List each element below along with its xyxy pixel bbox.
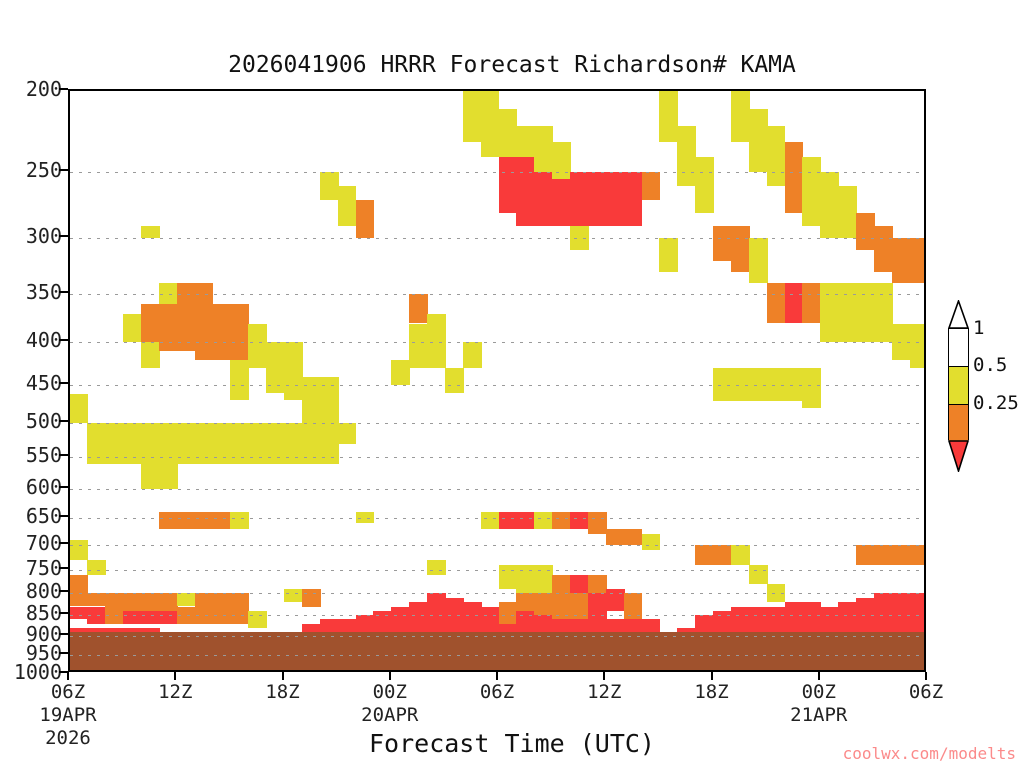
heatmap-cell <box>123 611 142 624</box>
heatmap-cell <box>230 423 249 464</box>
heatmap-cell <box>820 283 839 342</box>
y-axis-tick-label: 500 <box>26 409 62 433</box>
heatmap-cell <box>659 91 678 142</box>
heatmap-cell <box>749 368 768 400</box>
heatmap-cell <box>141 342 160 368</box>
y-axis-tick-label: 350 <box>26 280 62 304</box>
heatmap-cell <box>409 324 428 369</box>
heatmap-cell <box>481 512 500 529</box>
heatmap-cell <box>570 593 589 619</box>
heatmap-cell <box>105 423 124 464</box>
heatmap-cell <box>606 529 625 545</box>
colorbar-tick-label: 1 <box>973 317 984 339</box>
heatmap-cell <box>499 512 518 529</box>
heatmap-cell <box>606 589 625 611</box>
y-axis-tick-mark <box>59 633 68 635</box>
heatmap-cell <box>141 611 160 624</box>
richardson-number-forecast-chart: 2026041906 HRRR Forecast Richardson# KAM… <box>0 0 1024 768</box>
x-tick-time: 00Z <box>790 681 847 704</box>
heatmap-cell <box>159 304 178 351</box>
heatmap-cell <box>284 423 303 464</box>
heatmap-cell <box>695 545 714 565</box>
heatmap-cell <box>248 423 267 464</box>
y-axis-tick-mark <box>59 486 68 488</box>
heatmap-cell <box>302 377 321 423</box>
heatmap-cell <box>820 172 839 238</box>
heatmap-cell <box>856 213 875 250</box>
heatmap-cell <box>159 464 178 489</box>
heatmap-cell <box>230 304 249 360</box>
heatmap-cell <box>856 598 875 636</box>
heatmap-cell <box>874 226 893 273</box>
heatmap-cell <box>534 512 553 529</box>
y-axis-tick-label: 700 <box>26 531 62 555</box>
colorbar-tick-label: 0.25 <box>973 392 1019 414</box>
heatmap-cell <box>802 157 821 226</box>
heatmap-cell <box>177 607 196 624</box>
x-tick-time: 06Z <box>480 681 514 704</box>
heatmap-cell <box>785 283 804 323</box>
heatmap-cell <box>767 126 786 187</box>
heatmap-cell <box>266 423 285 464</box>
x-tick-time: 12Z <box>158 681 192 704</box>
heatmap-cell <box>785 602 804 636</box>
heatmap-cell <box>481 91 500 157</box>
heatmap-cell <box>767 368 786 400</box>
x-axis-tick-mark <box>282 672 284 680</box>
heatmap-cell <box>659 238 678 273</box>
heatmap-cell <box>356 200 375 238</box>
heatmap-cell <box>338 423 357 444</box>
heatmap-cell <box>910 545 926 565</box>
heatmap-cell <box>123 593 142 611</box>
x-tick-date: 19APR <box>39 704 96 727</box>
y-axis-tick-mark <box>59 542 68 544</box>
x-axis-tick-label: 06Z <box>480 681 514 704</box>
x-axis-tick-label: 00Z21APR <box>790 681 847 727</box>
x-axis-tick-mark <box>496 672 498 680</box>
heatmap-cell <box>213 304 232 360</box>
heatmap-cell <box>445 598 464 636</box>
x-axis-tick-marks <box>68 672 926 681</box>
heatmap-cell <box>141 593 160 611</box>
heatmap-cell <box>910 238 926 283</box>
heatmap-cell <box>892 545 911 565</box>
heatmap-cell <box>213 423 232 464</box>
heatmap-cell <box>445 368 464 392</box>
heatmap-cell <box>606 172 625 226</box>
heatmap-cell <box>588 172 607 226</box>
heatmap-cells <box>70 91 924 670</box>
y-axis-tick-label: 200 <box>26 77 62 101</box>
heatmap-cell <box>284 342 303 400</box>
heatmap-cell <box>534 565 553 593</box>
heatmap-cell <box>427 593 446 636</box>
x-axis-tick-mark <box>711 672 713 680</box>
heatmap-cell <box>87 607 106 624</box>
watermark: coolwx.com/modelts <box>843 744 1016 763</box>
heatmap-cell <box>320 172 339 200</box>
heatmap-cell <box>391 360 410 385</box>
heatmap-cell <box>356 512 375 523</box>
y-axis-tick-label: 450 <box>26 371 62 395</box>
heatmap-cell <box>552 593 571 619</box>
heatmap-cell <box>856 545 875 565</box>
colorbar-segment <box>949 366 968 404</box>
heatmap-cell <box>230 593 249 623</box>
heatmap-cell <box>802 602 821 636</box>
heatmap-cell <box>534 593 553 615</box>
x-axis-tick-mark <box>925 672 927 680</box>
x-axis-tick-mark <box>389 672 391 680</box>
colorbar-segment <box>949 329 968 366</box>
heatmap-cell <box>284 589 303 603</box>
colorbar-body <box>948 328 969 440</box>
heatmap-cell <box>570 172 589 226</box>
heatmap-cell <box>570 512 589 529</box>
x-tick-time: 06Z <box>39 681 96 704</box>
heatmap-cell <box>338 186 357 226</box>
heatmap-cell <box>749 109 768 172</box>
heatmap-cell <box>749 238 768 283</box>
heatmap-cell <box>141 464 160 489</box>
heatmap-cell <box>177 593 196 606</box>
heatmap-cell <box>248 324 267 369</box>
y-axis-tick-label: 550 <box>26 443 62 467</box>
heatmap-cell <box>588 593 607 619</box>
heatmap-cell <box>570 575 589 594</box>
x-tick-time: 12Z <box>587 681 621 704</box>
y-axis-tick-label: 400 <box>26 328 62 352</box>
colorbar-upper-arrow <box>948 300 969 329</box>
y-axis-tick-mark <box>59 169 68 171</box>
heatmap-cell <box>177 512 196 529</box>
x-tick-date: 20APR <box>361 704 418 727</box>
heatmap-cell <box>713 368 732 400</box>
heatmap-cell <box>427 314 446 368</box>
x-axis-tick-label: 06Z <box>909 681 943 704</box>
y-axis-tick-mark <box>59 652 68 654</box>
heatmap-cell <box>731 91 750 142</box>
heatmap-cell <box>802 283 821 323</box>
heatmap-cell <box>731 226 750 273</box>
y-axis-tick-mark <box>59 235 68 237</box>
heatmap-cell <box>588 575 607 594</box>
heatmap-cell <box>499 565 518 589</box>
x-tick-time: 00Z <box>361 681 418 704</box>
heatmap-cell <box>910 593 926 636</box>
heatmap-cell <box>159 593 178 611</box>
plot-area <box>68 89 926 672</box>
heatmap-cell <box>713 226 732 262</box>
colorbar-legend: 10.50.25 <box>943 300 1023 472</box>
colorbar-lower-arrow <box>948 440 969 469</box>
x-axis-tick-mark <box>174 672 176 680</box>
heatmap-cell <box>87 593 106 606</box>
heatmap-cell <box>874 545 893 565</box>
x-axis-tick-label: 12Z <box>158 681 192 704</box>
heatmap-cell <box>70 575 89 594</box>
y-axis-tick-label: 650 <box>26 504 62 528</box>
heatmap-cell <box>302 589 321 607</box>
heatmap-cell <box>320 423 339 464</box>
heatmap-cell <box>123 314 142 342</box>
x-axis-tick-mark <box>603 672 605 680</box>
heatmap-cell <box>463 91 482 142</box>
x-tick-time: 18Z <box>694 681 728 704</box>
heatmap-cell <box>838 283 857 342</box>
y-axis-tick-mark <box>59 88 68 90</box>
heatmap-cell <box>70 540 89 560</box>
heatmap-cell <box>105 593 124 611</box>
heatmap-cell <box>195 283 214 360</box>
heatmap-cell <box>892 238 911 283</box>
heatmap-cell <box>713 545 732 565</box>
heatmap-cell <box>516 565 535 593</box>
heatmap-cell <box>213 593 232 623</box>
heatmap-cell <box>230 512 249 529</box>
heatmap-cell <box>749 565 768 584</box>
heatmap-cell <box>767 283 786 323</box>
y-axis-tick-mark <box>59 339 68 341</box>
y-axis-tick-label: 800 <box>26 579 62 603</box>
x-axis-tick-mark <box>67 672 69 680</box>
heatmap-cell <box>570 226 589 250</box>
heatmap-cell <box>302 423 321 464</box>
heatmap-cell <box>463 342 482 368</box>
x-axis-tick-mark <box>818 672 820 680</box>
heatmap-cell <box>266 342 285 393</box>
y-axis-tick-label: 750 <box>26 556 62 580</box>
x-axis-tick-label: 00Z20APR <box>361 681 418 727</box>
y-axis-tick-mark <box>59 420 68 422</box>
heatmap-cell <box>70 607 89 620</box>
y-axis-tick-label: 250 <box>26 158 62 182</box>
heatmap-cell <box>785 368 804 400</box>
x-tick-time: 18Z <box>265 681 299 704</box>
heatmap-cell <box>177 283 196 351</box>
heatmap-cell <box>195 423 214 464</box>
heatmap-cell <box>731 545 750 565</box>
heatmap-cell <box>195 593 214 623</box>
heatmap-cell <box>409 294 428 324</box>
heatmap-cell <box>409 602 428 636</box>
heatmap-cell <box>516 157 535 226</box>
y-axis-tick-label: 300 <box>26 224 62 248</box>
colorbar-tick-label: 0.5 <box>973 354 1007 376</box>
heatmap-cell <box>802 368 821 408</box>
heatmap-cell <box>767 584 786 602</box>
heatmap-cell <box>213 512 232 529</box>
heatmap-cell <box>463 602 482 636</box>
heatmap-cell <box>499 157 518 213</box>
heatmap-cell <box>892 324 911 360</box>
heatmap-cell <box>427 560 446 575</box>
heatmap-cell <box>159 611 178 624</box>
heatmap-cell <box>838 602 857 636</box>
heatmap-cell <box>874 593 893 636</box>
y-axis-labels: 2002503003504004505005506006507007508008… <box>0 89 62 672</box>
heatmap-cell <box>195 512 214 529</box>
heatmap-cell <box>552 179 571 226</box>
heatmap-cell <box>87 560 106 575</box>
heatmap-cell <box>695 157 714 213</box>
terrain-ground-region <box>70 632 924 670</box>
heatmap-cell <box>141 226 160 238</box>
heatmap-cell <box>874 283 893 342</box>
heatmap-cell <box>838 186 857 238</box>
x-axis-tick-label: 18Z <box>265 681 299 704</box>
y-axis-tick-mark <box>59 454 68 456</box>
heatmap-cell <box>552 512 571 529</box>
heatmap-cell <box>141 304 160 342</box>
y-axis-tick-mark <box>59 590 68 592</box>
heatmap-cell <box>159 423 178 464</box>
heatmap-cell <box>677 126 696 187</box>
y-axis-tick-label: 600 <box>26 475 62 499</box>
heatmap-cell <box>731 368 750 400</box>
y-axis-tick-mark <box>59 515 68 517</box>
y-axis-tick-mark <box>59 291 68 293</box>
heatmap-cell <box>856 283 875 342</box>
heatmap-cell <box>70 394 89 423</box>
x-axis-tick-label: 18Z <box>694 681 728 704</box>
heatmap-cell <box>552 575 571 594</box>
heatmap-cell <box>624 172 643 226</box>
heatmap-cell <box>892 593 911 636</box>
heatmap-cell <box>230 360 249 401</box>
heatmap-cell <box>87 423 106 464</box>
colorbar-segment <box>949 404 968 442</box>
y-axis-tick-mark <box>59 612 68 614</box>
heatmap-cell <box>642 172 661 200</box>
x-axis-tick-label: 12Z <box>587 681 621 704</box>
heatmap-cell <box>534 172 553 226</box>
heatmap-cell <box>516 593 535 611</box>
heatmap-cell <box>248 611 267 628</box>
heatmap-cell <box>70 593 89 606</box>
x-tick-date: 21APR <box>790 704 847 727</box>
heatmap-cell <box>123 423 142 464</box>
heatmap-cell <box>785 142 804 213</box>
page-title: 2026041906 HRRR Forecast Richardson# KAM… <box>0 52 1024 78</box>
heatmap-cell <box>177 423 196 464</box>
heatmap-cell <box>516 512 535 529</box>
y-axis-tick-mark <box>59 567 68 569</box>
x-tick-time: 06Z <box>909 681 943 704</box>
heatmap-cell <box>624 529 643 545</box>
heatmap-cell <box>105 611 124 624</box>
y-axis-tick-mark <box>59 382 68 384</box>
heatmap-cell <box>141 423 160 464</box>
heatmap-cell <box>588 512 607 534</box>
heatmap-cell <box>159 512 178 529</box>
heatmap-cell <box>910 324 926 369</box>
heatmap-cell <box>624 593 643 619</box>
heatmap-cell <box>499 602 518 623</box>
heatmap-cell <box>642 534 661 550</box>
